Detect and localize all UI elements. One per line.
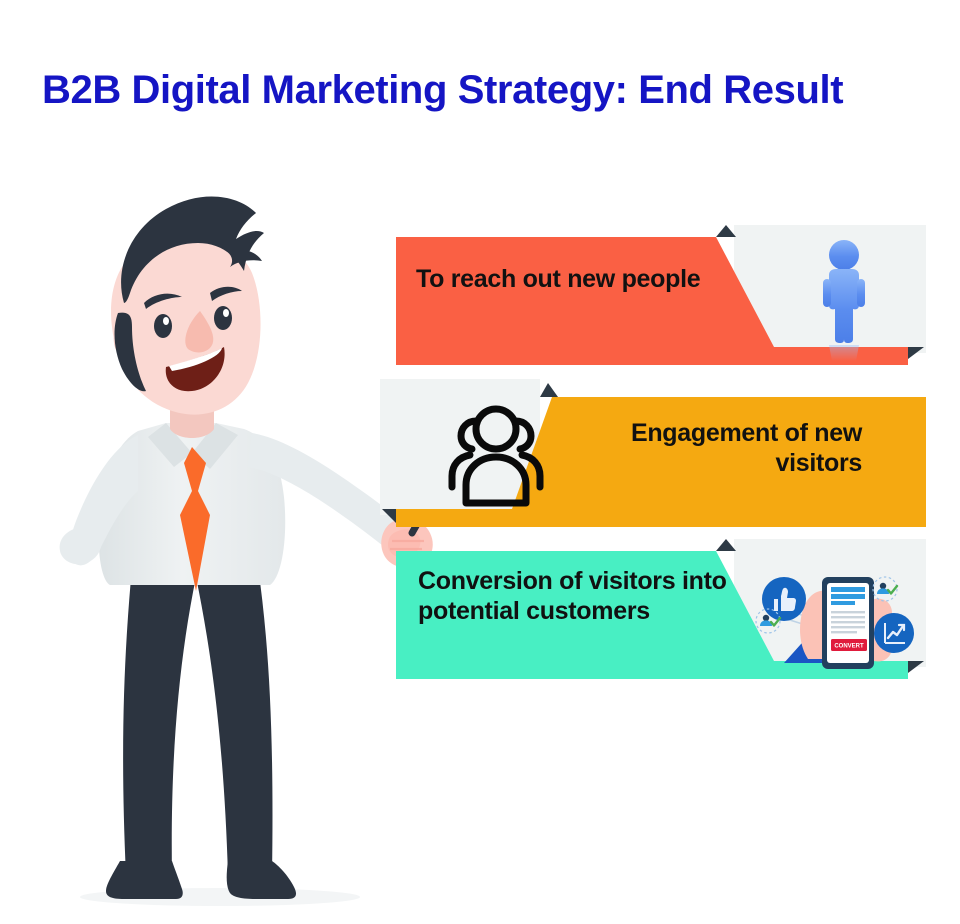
right-leg [196,567,272,875]
infographic-canvas: B2B Digital Marketing Strategy: End Resu… [0,0,960,924]
left-shoe [106,861,183,899]
left-leg [123,567,196,875]
banner-3-label: Conversion of visitors into potential cu… [418,567,788,626]
left-eye [154,314,172,338]
right-eye-highlight [223,309,229,317]
banner-engagement[interactable]: Engagement of new visitors [380,379,926,529]
page-title: B2B Digital Marketing Strategy: End Resu… [42,68,942,113]
left-eye-highlight [163,317,169,325]
right-eye [214,306,232,330]
businessman-presenter-illustration [20,185,450,915]
left-hand-on-hip [60,527,102,564]
right-shoe [227,861,296,899]
banner-conversion[interactable]: CONVERT [396,539,926,681]
banner-2-panel [380,379,540,515]
convert-button-label: CONVERT [834,644,864,650]
growth-chart-badge [874,613,914,653]
banner-2-bottom-fold [382,509,396,523]
banner-reach-out[interactable]: To reach out new people [396,225,926,367]
banner-2-top-fold [540,383,558,397]
banner-1-label: To reach out new people [416,265,756,295]
banner-3-top-fold [716,539,736,551]
banner-1-top-fold [716,225,736,237]
banner-2-label: Engagement of new visitors [580,419,862,478]
head [111,197,264,415]
